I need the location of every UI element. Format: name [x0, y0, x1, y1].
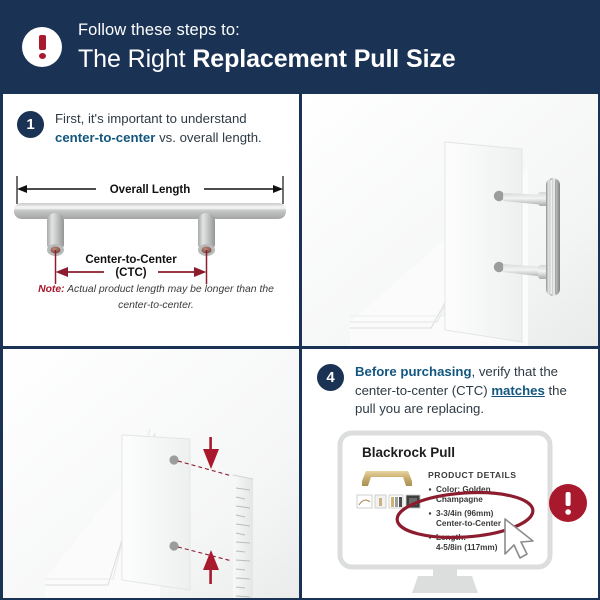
step-1-header: 1 First, it's important to understand ce…: [17, 110, 290, 147]
cabinet-pull-illustration: [300, 94, 600, 347]
product-detail-ctc: 3-3/4in (96mm) Center-to-Center: [429, 509, 502, 528]
monitor-base: [412, 576, 478, 593]
step-1-text-part-1: First, it's important to understand: [55, 111, 247, 126]
note-rest: Actual product length may be longer than…: [65, 284, 274, 311]
header-kicker: Follow these steps to:: [78, 21, 456, 41]
pull-diagram-svg: Overall Length: [0, 172, 300, 292]
infographic-root: Follow these steps to: The Right Replace…: [0, 0, 600, 600]
monitor-svg: Blackrock Pull PRODUCT DETAILS Color: Go…: [300, 423, 600, 600]
step-number-badge-1: 1: [17, 111, 44, 138]
screw-hole-bottom: [169, 541, 178, 550]
step-4-text-part-1: Before purchasing: [355, 364, 472, 379]
step-panel-2: 2 If you are replacing a pull, start by …: [300, 94, 600, 347]
pull-post-right: [198, 213, 215, 256]
measure-illustration: [0, 347, 300, 600]
monitor-illustration: Blackrock Pull PRODUCT DETAILS Color: Go…: [300, 423, 600, 600]
cabinet-door: [445, 142, 522, 342]
step-4-text: Before purchasing, verify that the cente…: [355, 363, 587, 419]
grid-edge-left: [0, 94, 3, 600]
note-lead: Note:: [38, 284, 65, 295]
screw-hole-top: [494, 191, 504, 201]
step-1-text-part-2: center-to-center: [55, 130, 155, 145]
exclamation-circle-icon: [22, 27, 62, 67]
step-panel-1: 1 First, it's important to understand ce…: [0, 94, 300, 347]
ctc-label-line2: (CTC): [115, 267, 146, 279]
product-details-heading: PRODUCT DETAILS: [428, 470, 517, 480]
exclamation-circle-icon: [549, 484, 587, 522]
cabinet-pull-bar: [546, 178, 560, 296]
step-4-text-part-3: matches: [491, 383, 545, 398]
ruler: [233, 475, 253, 600]
header-text-block: Follow these steps to: The Right Replace…: [78, 21, 456, 73]
grid-divider-horizontal: [0, 346, 600, 349]
step-panel-4: 4 Before purchasing, verify that the cen…: [300, 347, 600, 600]
cabinet-door: [122, 435, 190, 590]
step-1-text-part-3: vs. overall length.: [155, 130, 261, 145]
screw-hole-bottom: [494, 262, 504, 272]
note-text: Note: Actual product length may be longe…: [36, 282, 276, 314]
overall-length-label: Overall Length: [110, 184, 191, 196]
overall-length-dimension: Overall Length: [17, 176, 283, 204]
step-4-header: 4 Before purchasing, verify that the cen…: [317, 363, 590, 419]
step-number-badge-4: 4: [317, 364, 344, 391]
pull-dimension-diagram: Overall Length: [0, 172, 300, 292]
detail-length-line2: 4-5/8in (117mm): [436, 543, 498, 552]
page-title-bold: Replacement Pull Size: [192, 45, 455, 73]
detail-ctc-line2: Center-to-Center: [436, 519, 502, 528]
header-banner: Follow these steps to: The Right Replace…: [0, 0, 600, 94]
page-title-light: The Right: [78, 45, 192, 73]
step-panel-3: 3 Measure the distance between the cente…: [0, 347, 300, 600]
steps-grid: 1 First, it's important to understand ce…: [0, 94, 600, 600]
ctc-dimension: Center-to-Center (CTC): [56, 250, 207, 284]
pull-post-left: [47, 213, 64, 256]
ctc-label-line1: Center-to-Center: [85, 254, 177, 266]
page-title: The Right Replacement Pull Size: [78, 45, 456, 73]
product-title: Blackrock Pull: [362, 445, 455, 460]
detail-ctc-line1: 3-3/4in (96mm): [436, 509, 494, 518]
step-1-text: First, it's important to understand cent…: [55, 110, 287, 147]
screw-hole-top: [169, 455, 178, 464]
